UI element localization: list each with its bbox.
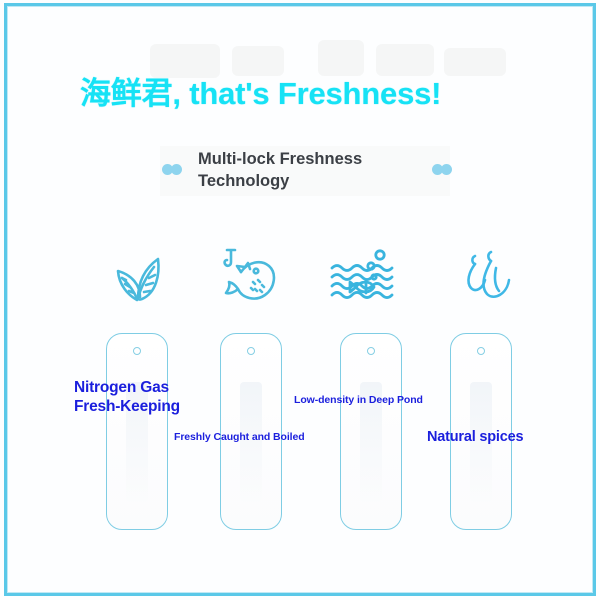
feature-caption-2: Freshly Caught and Boiled	[174, 430, 305, 444]
feature-icon-cell-4	[435, 232, 535, 322]
feature-icon-cell-2	[200, 232, 300, 322]
feature-caption-4: Natural spices	[427, 428, 523, 446]
poster-canvas: 海鲜君, that's Freshness! Multi-lock Freshn…	[0, 0, 600, 600]
subtitle-text: Multi-lock Freshness Technology	[160, 146, 450, 196]
card-ring-icon	[133, 347, 141, 355]
decorative-dots-left	[162, 164, 188, 176]
title-tagline: , that's Freshness!	[172, 76, 441, 111]
fish-in-waves-icon	[326, 246, 404, 308]
card-ring-icon	[247, 347, 255, 355]
product-card[interactable]	[106, 333, 168, 530]
card-ring-icon	[367, 347, 375, 355]
card-ring-icon	[477, 347, 485, 355]
chili-peppers-icon	[453, 246, 517, 308]
leaves-icon	[104, 245, 168, 309]
brand-name-cn: 海鲜君	[80, 76, 172, 112]
feature-caption-1: Nitrogen Gas Fresh-Keeping	[74, 378, 180, 416]
background-watermark	[444, 48, 506, 76]
feature-icon-cell-3	[315, 232, 415, 322]
subtitle-block: Multi-lock Freshness Technology	[160, 146, 450, 196]
decorative-dots-right	[432, 164, 458, 176]
feature-icon-cell-1	[86, 232, 186, 322]
fish-hook-icon	[215, 242, 285, 312]
feature-caption-3: Low-density in Deep Pond	[294, 393, 423, 407]
product-card[interactable]	[340, 333, 402, 530]
page-title: 海鲜君, that's Freshness!	[80, 68, 441, 113]
feature-icon-row	[0, 232, 600, 322]
